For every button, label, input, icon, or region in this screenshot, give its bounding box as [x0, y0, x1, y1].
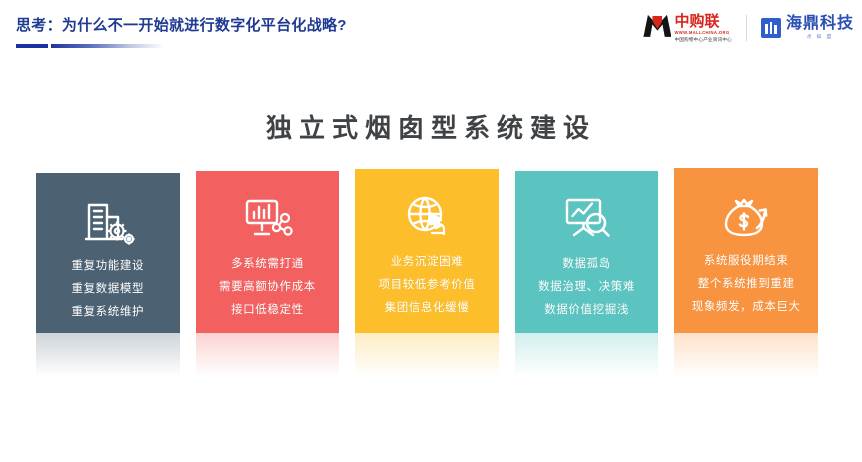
section-title: 独立式烟囱型系统建设: [0, 108, 862, 145]
card-row: 重复功能建设 重复数据模型 重复系统维护: [36, 173, 818, 333]
board-chart-magnifier-icon: [558, 191, 616, 245]
mallchina-m-mark-icon: [643, 15, 671, 39]
logo-haiding-name: 海鼎科技: [786, 16, 854, 32]
card-reflection: [36, 333, 180, 389]
card-duplicate-build[interactable]: 重复功能建设 重复数据模型 重复系统维护: [36, 173, 180, 333]
card-line: 数据治理、决策难: [538, 278, 635, 294]
card-line: 重复系统维护: [71, 303, 144, 319]
money-bag-arrow-icon: [717, 188, 775, 242]
card-line: 重复功能建设: [71, 257, 144, 273]
card-text-lines: 重复功能建设 重复数据模型 重复系统维护: [71, 257, 144, 319]
page-header: 思考：为什么不一开始就进行数字化平台化战略? 中购联 WWW.MALLCHINA…: [0, 0, 862, 56]
card-line: 需要高额协作成本: [219, 278, 316, 294]
logo-divider: [746, 15, 747, 41]
card-line: 集团信息化缓慢: [385, 299, 470, 315]
card-line: 接口低稳定性: [231, 301, 304, 317]
card-line: 项目较低参考价值: [379, 276, 476, 292]
logo-haiding-subtitle: 点 知 盟: [786, 35, 854, 40]
page-title: 思考：为什么不一开始就进行数字化平台化战略?: [16, 14, 347, 35]
card-reflection: [355, 333, 499, 389]
card-line: 现象频发，成本巨大: [692, 298, 801, 314]
card-line: 整个系统推到重建: [698, 275, 795, 291]
card-reflection: [196, 333, 340, 389]
underline-segment-solid: [16, 44, 48, 48]
card-system-integration[interactable]: 多系统需打通 需要高额协作成本 接口低稳定性: [196, 171, 340, 333]
card-line: 数据价值挖掘浅: [544, 301, 629, 317]
monitor-chart-share-icon: [238, 191, 296, 245]
logo-haiding: 海鼎科技 点 知 盟: [761, 16, 854, 40]
underline-segment-gradient: [51, 44, 164, 48]
card-reflection: [674, 333, 818, 389]
logo-zhonggoulian-name: 中购联: [674, 14, 732, 29]
card-text-lines: 多系统需打通 需要高额协作成本 接口低稳定性: [219, 255, 316, 317]
title-underline: [16, 44, 164, 48]
haiding-bars-icon: [761, 18, 781, 38]
globe-hand-click-icon: [398, 189, 456, 243]
card-text-lines: 业务沉淀困难 项目较低参考价值 集团信息化缓慢: [379, 253, 476, 315]
logo-zhonggoulian: 中购联 WWW.MALLCHINA.ORG 中国购物中心产业资讯中心: [643, 14, 732, 42]
logo-zhonggoulian-subtitle: 中国购物中心产业资讯中心: [674, 38, 732, 43]
logo-group: 中购联 WWW.MALLCHINA.ORG 中国购物中心产业资讯中心 海鼎科技 …: [643, 8, 854, 48]
card-line: 重复数据模型: [71, 280, 144, 296]
card-text-lines: 数据孤岛 数据治理、决策难 数据价值挖掘浅: [538, 255, 635, 317]
card-cost-rebuild[interactable]: 系统服役期结束 整个系统推到重建 现象频发，成本巨大: [674, 168, 818, 333]
card-data-island[interactable]: 数据孤岛 数据治理、决策难 数据价值挖掘浅: [515, 171, 659, 333]
building-gears-icon: [79, 193, 137, 247]
card-reflection: [515, 333, 659, 389]
card-business-accumulation[interactable]: 业务沉淀困难 项目较低参考价值 集团信息化缓慢: [355, 169, 499, 333]
card-line: 系统服役期结束: [704, 252, 789, 268]
logo-zhonggoulian-url: WWW.MALLCHINA.ORG: [674, 31, 732, 35]
card-line: 多系统需打通: [231, 255, 304, 271]
card-line: 业务沉淀困难: [391, 253, 464, 269]
card-line: 数据孤岛: [562, 255, 610, 271]
card-text-lines: 系统服役期结束 整个系统推到重建 现象频发，成本巨大: [692, 252, 801, 314]
